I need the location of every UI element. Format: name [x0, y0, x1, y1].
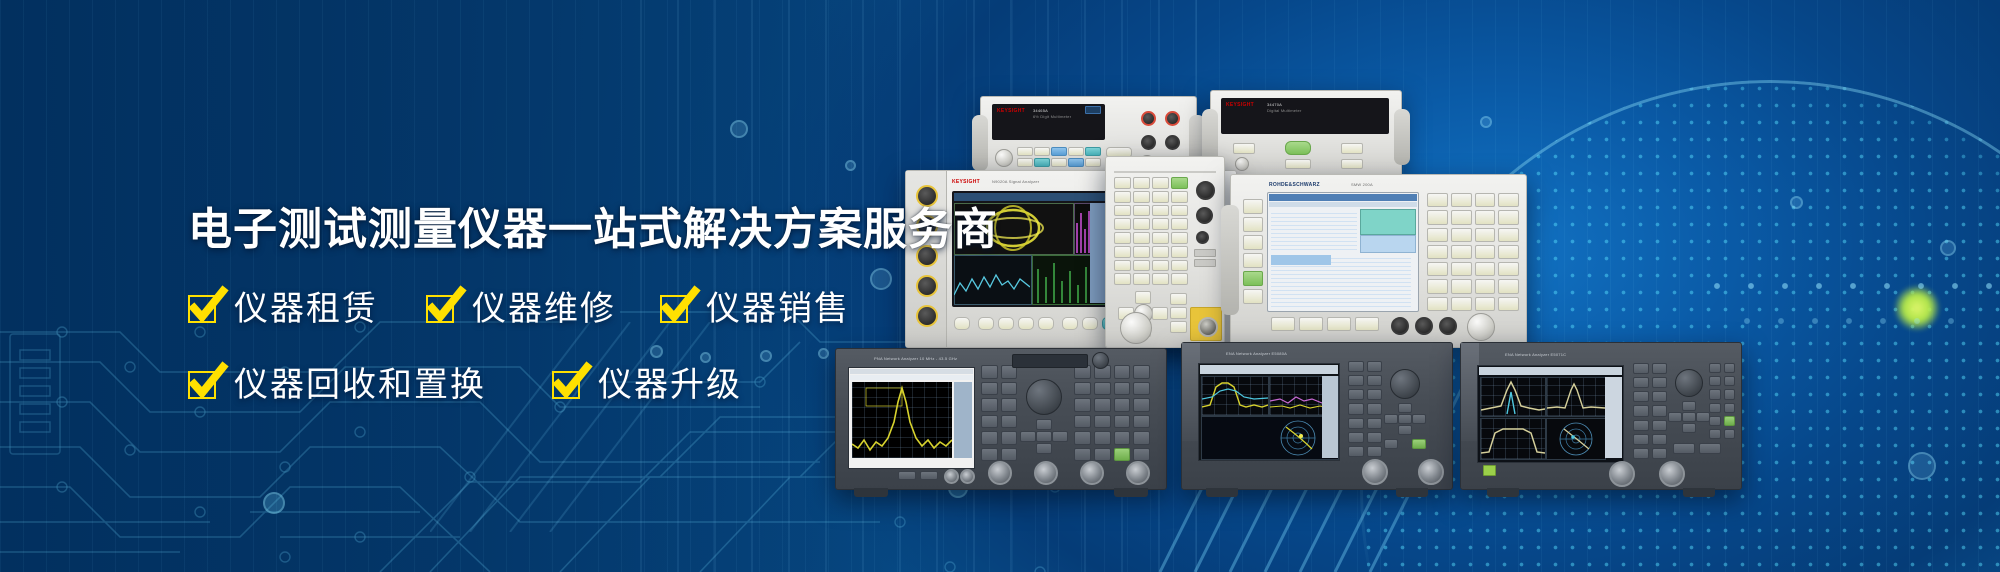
instrument-keypad-key	[1171, 232, 1188, 244]
instrument-keypad-key	[1171, 205, 1188, 217]
instrument-keypad-key	[1114, 365, 1131, 379]
instrument-keypad-key	[1427, 262, 1448, 276]
display-text-rows	[1271, 210, 1357, 250]
instrument-button	[1271, 317, 1295, 331]
instrument-nav-enter	[1682, 412, 1696, 422]
instrument-button	[1348, 418, 1364, 429]
instrument-test-port	[1418, 459, 1444, 485]
instrument-button	[1633, 434, 1649, 445]
instrument-model-label: N9020A Signal Analyzer	[992, 179, 1039, 184]
instrument-foot	[854, 488, 888, 497]
instrument-keypad-key	[1152, 260, 1169, 272]
instrument-keypad-key	[1475, 228, 1496, 242]
feature-instrument-upgrade[interactable]: 仪器升级	[552, 368, 742, 402]
instrument-softkey	[1243, 289, 1263, 304]
feature-label: 仪器维修	[472, 292, 616, 326]
instrument-keypad-key	[1724, 363, 1736, 373]
keysight-logo: KEYSIGHT	[1226, 102, 1254, 108]
instrument-button	[1341, 159, 1363, 169]
instrument-keypad-key	[1114, 260, 1131, 272]
instrument-foot	[1396, 488, 1428, 497]
instrument-foot	[1114, 488, 1148, 497]
instrument-keypad-key	[1171, 177, 1188, 189]
instrument-keypad-key	[1114, 191, 1131, 203]
instrument-usb-port	[898, 471, 916, 480]
instrument-test-port	[1034, 461, 1058, 485]
instrument-nav-up	[1135, 291, 1151, 304]
instrument-keypad-key	[1498, 228, 1519, 242]
instrument-keypad-key	[1074, 431, 1091, 445]
instrument-button	[1355, 317, 1379, 331]
instrument-navigation-knob	[1675, 369, 1703, 397]
feature-label: 仪器回收和置换	[234, 368, 486, 402]
instrument-handle	[1221, 205, 1239, 315]
instrument-keypad-key	[1724, 389, 1736, 399]
instrument-small-knob	[1092, 352, 1109, 369]
instrument-button	[1062, 317, 1078, 330]
instrument-keypad-key	[1498, 279, 1519, 293]
instrument-display	[1267, 192, 1419, 312]
instrument-keypad-key	[1114, 448, 1131, 462]
instrument-keypad-key	[1114, 398, 1131, 412]
instrument-keypad-key	[1152, 246, 1169, 258]
instrument-keypad-key	[1475, 245, 1496, 259]
instrument-keypad-key	[1427, 297, 1448, 311]
instrument-keypad-key	[1133, 177, 1150, 189]
instrument-keypad-key	[1114, 273, 1131, 285]
instrument-keypad-key	[1724, 416, 1736, 426]
instrument-keypad-key	[1094, 415, 1111, 429]
instrument-button	[1348, 375, 1364, 386]
instrument-test-port	[1609, 461, 1635, 487]
instrument-test-port	[988, 461, 1012, 485]
checkbox-checked-icon	[188, 293, 220, 325]
instrument-keypad-key	[1152, 191, 1169, 203]
instrument-keypad-key	[1114, 177, 1131, 189]
instrument-keypad-key	[1152, 273, 1169, 285]
instrument-keypad-key	[1709, 403, 1721, 413]
instrument-button	[1170, 307, 1187, 319]
feature-instrument-sales[interactable]: 仪器销售	[660, 292, 850, 326]
instrument-button	[1652, 363, 1668, 374]
instrument-button	[1652, 420, 1668, 431]
instrument-button	[1299, 317, 1323, 331]
instrument-keypad-key	[1133, 398, 1150, 412]
instrument-button	[1633, 363, 1649, 374]
instrument-model-label: 34465A	[1033, 108, 1048, 113]
instrument-connector	[1196, 181, 1215, 200]
checkbox-checked-icon	[552, 369, 584, 401]
instrument-keypad-key	[1475, 193, 1496, 207]
instrument-keypad-key	[1498, 297, 1519, 311]
instrument-button	[1017, 158, 1033, 167]
instrument-knob	[995, 149, 1013, 167]
instrument-keypad-key	[1475, 262, 1496, 276]
instrument-button	[1348, 432, 1364, 443]
instrument-keypad-key	[1427, 228, 1448, 242]
instrument-keypad-key	[1074, 448, 1091, 462]
instrument-keypad-key	[1133, 218, 1150, 230]
instrument-button	[1348, 389, 1364, 400]
keysight-logo: KEYSIGHT	[952, 179, 980, 185]
instrument-rotary-knob	[1120, 312, 1152, 344]
instrument-keypad-key	[1709, 376, 1721, 386]
instrument-keypad-key	[1171, 191, 1188, 203]
instrument-button	[1001, 448, 1018, 462]
instrument-rotary-knob	[1467, 313, 1495, 341]
instrument-keypad-key	[1114, 246, 1131, 258]
checkbox-checked-icon	[660, 293, 692, 325]
instrument-usb-port	[1699, 443, 1721, 454]
instrument-button	[981, 415, 998, 429]
instrument-keypad-key	[1133, 191, 1150, 203]
instrument-usb-port	[920, 471, 938, 480]
instrument-bnc-port	[944, 469, 959, 484]
instrument-bnc-port	[960, 469, 975, 484]
instrument-button	[1068, 147, 1084, 156]
instrument-softkey	[1243, 253, 1263, 268]
instrument-keypad-key	[1451, 245, 1472, 259]
instrument-nav-right	[1052, 431, 1068, 442]
instrument-foot	[1683, 488, 1715, 497]
instrument-model-label: ENA Network Analyzer E5071C	[1505, 352, 1566, 357]
instrument-terminal	[1165, 135, 1180, 150]
instrument-button	[1652, 434, 1668, 445]
instrument-softkey	[1243, 235, 1263, 250]
checkbox-checked-icon	[426, 293, 458, 325]
instrument-terminal	[1165, 111, 1180, 126]
instrument-keypad-key	[1427, 279, 1448, 293]
instrument-button	[981, 431, 998, 445]
instrument-ena-network-analyzer-center: ENA Network Analyzer E5080A	[1181, 342, 1453, 490]
instrument-keypad-key	[1114, 205, 1131, 217]
instrument-keypad-key	[1094, 431, 1111, 445]
instrument-handle	[1394, 109, 1410, 165]
instrument-button	[1285, 141, 1311, 155]
instrument-keypad-key	[1451, 279, 1472, 293]
instrument-keypad-key	[1498, 262, 1519, 276]
instrument-handle	[972, 115, 988, 171]
instrument-keypad-key	[1133, 273, 1150, 285]
instrument-keypad-key	[1498, 245, 1519, 259]
instrument-keypad-key	[1709, 389, 1721, 399]
instrument-button	[1170, 293, 1187, 305]
banner-copy: 电子测试测量仪器一站式解决方案服务商 仪器租赁 仪器维修	[188, 206, 1048, 402]
feature-label: 仪器销售	[706, 292, 850, 326]
instrument-nav-enter	[1036, 431, 1052, 442]
instrument-keypad-key	[1152, 205, 1169, 217]
instrument-keypad-key	[1152, 177, 1169, 189]
instrument-usb-port	[1673, 443, 1695, 454]
instrument-button	[1384, 439, 1398, 449]
instrument-keypad-key	[1114, 382, 1131, 396]
instrument-keypad-key	[1427, 193, 1448, 207]
instrument-model-label: ENA Network Analyzer E5080A	[1226, 351, 1287, 356]
instrument-button	[1367, 361, 1383, 372]
instrument-nav-right	[1696, 412, 1710, 422]
instrument-button	[1633, 377, 1649, 388]
instrument-button	[1348, 446, 1364, 457]
instrument-nav-right	[1152, 307, 1168, 320]
instrument-nav-up	[1036, 419, 1052, 430]
rohde-schwarz-logo: ROHDE&SCHWARZ	[1269, 182, 1320, 188]
instrument-button	[1412, 439, 1426, 449]
instrument-nav-up	[1398, 403, 1412, 413]
instrument-navigation-knob	[1390, 369, 1420, 399]
instrument-keypad-key	[1724, 376, 1736, 386]
instrument-keypad-key	[1171, 273, 1188, 285]
instrument-button	[1367, 375, 1383, 386]
instrument-keypad-key	[1171, 218, 1188, 230]
instrument-keypad-key	[1074, 398, 1091, 412]
instrument-button	[1085, 158, 1101, 167]
instrument-button	[1367, 389, 1383, 400]
instrument-power-led	[1483, 465, 1496, 476]
instrument-subtitle: 6½ Digit Multimeter	[1033, 114, 1071, 119]
instrument-button	[1051, 158, 1067, 167]
keysight-logo: KEYSIGHT	[997, 108, 1025, 114]
instrument-button	[1652, 448, 1668, 459]
instrument-button	[1633, 420, 1649, 431]
feature-instrument-recycle-exchange[interactable]: 仪器回收和置换	[188, 368, 486, 402]
instrument-softkey	[1243, 217, 1263, 232]
instrument-keypad-key	[1152, 218, 1169, 230]
instrument-keypad-key	[1427, 245, 1448, 259]
instrument-keypad-key	[1152, 232, 1169, 244]
instrument-button	[1170, 321, 1187, 333]
bokeh-bubble	[845, 160, 856, 171]
instrument-keypad-key	[1133, 205, 1150, 217]
instrument-keypad-key	[1171, 246, 1188, 258]
instrument-button	[1633, 448, 1649, 459]
instrument-keypad-key	[1451, 228, 1472, 242]
instrument-test-port	[1659, 461, 1685, 487]
instrument-keypad-key	[1498, 210, 1519, 224]
feature-row-1: 仪器租赁 仪器维修 仪器销售	[188, 292, 1048, 326]
instrument-test-port	[1362, 459, 1388, 485]
instrument-keypad-key	[1171, 260, 1188, 272]
instrument-softkey	[1243, 199, 1263, 214]
instrument-button	[1085, 147, 1101, 156]
instrument-button	[1367, 446, 1383, 457]
instrument-keypad-key	[1498, 193, 1519, 207]
instrument-keypad-key	[1475, 210, 1496, 224]
instrument-nav-enter	[1398, 414, 1412, 424]
instrument-button	[1633, 391, 1649, 402]
instrument-keypad-key	[1451, 193, 1472, 207]
instrument-keypad-key	[1709, 416, 1721, 426]
instrument-keypad-key	[1724, 403, 1736, 413]
instrument-keypad-key	[1724, 429, 1736, 439]
instrument-keypad-key	[1133, 260, 1150, 272]
instrument-keypad-key	[1094, 448, 1111, 462]
instrument-keypad-key	[1133, 365, 1150, 379]
feature-label: 仪器升级	[598, 368, 742, 402]
instrument-keypad-key	[1427, 210, 1448, 224]
checkbox-checked-icon	[188, 369, 220, 401]
instrument-keypad-key	[1451, 262, 1472, 276]
page-title: 电子测试测量仪器一站式解决方案服务商	[188, 206, 1048, 254]
instrument-keypad-key	[1114, 218, 1131, 230]
instrument-display	[1198, 363, 1340, 461]
instrument-button	[1285, 159, 1311, 169]
instrument-keypad-key	[1475, 279, 1496, 293]
instrument-mxg-signal-generator	[1105, 156, 1225, 348]
instrument-keypad-key	[1074, 382, 1091, 396]
instrument-button	[1233, 143, 1255, 154]
instrument-softkey	[1243, 271, 1263, 286]
instrument-keypad-key	[1133, 246, 1150, 258]
instrument-subtitle: Digital Multimeter	[1267, 108, 1302, 113]
instrument-digital-multimeter-34470a: KEYSIGHT 34470A Digital Multimeter	[1210, 90, 1402, 180]
instrument-nav-right	[1412, 414, 1426, 424]
instrument-rf-port	[1415, 317, 1433, 335]
instrument-button	[1348, 403, 1364, 414]
instrument-button	[1017, 147, 1033, 156]
instrument-keypad-key	[1451, 297, 1472, 311]
instrument-nav-left	[1020, 431, 1036, 442]
instrument-display	[1477, 365, 1624, 463]
instrument-rf-port	[1439, 317, 1457, 335]
instrument-foot	[1206, 488, 1238, 497]
instrument-test-port	[1080, 461, 1104, 485]
instrument-button	[1034, 158, 1050, 167]
instrument-keypad-key	[1094, 398, 1111, 412]
instrument-terminal	[1141, 135, 1156, 150]
instrument-keypad-key	[1133, 431, 1150, 445]
instrument-keypad-key	[1475, 297, 1496, 311]
instrument-button	[1001, 431, 1018, 445]
instrument-keypad-key	[1451, 210, 1472, 224]
instrument-model-label: 34470A	[1267, 102, 1282, 107]
instrument-keypad-key	[1114, 415, 1131, 429]
instrument-rf-output-port	[1190, 307, 1222, 341]
instrument-button	[1068, 158, 1084, 167]
instrument-nav-left	[1668, 412, 1682, 422]
feature-instrument-rental[interactable]: 仪器租赁	[188, 292, 378, 326]
instrument-keypad-key	[1114, 431, 1131, 445]
instrument-keypad-key	[1133, 448, 1150, 462]
instrument-cluster: KEYSIGHT 34465A 6½ Digit Multimeter	[1035, 96, 1965, 516]
instrument-button	[1633, 405, 1649, 416]
instrument-terminal	[1141, 111, 1156, 126]
instrument-button	[1367, 418, 1383, 429]
instrument-nav-down	[1036, 443, 1052, 454]
instrument-keypad-key	[1133, 232, 1150, 244]
instrument-knob	[1235, 157, 1249, 171]
instrument-button	[1082, 317, 1098, 330]
instrument-button	[1348, 361, 1364, 372]
instrument-keypad-key	[1709, 363, 1721, 373]
instrument-connector	[1196, 207, 1213, 224]
instrument-foot	[1487, 488, 1519, 497]
instrument-keypad-key	[1133, 382, 1150, 396]
instrument-button	[1034, 147, 1050, 156]
instrument-ena-network-analyzer-right: ENA Network Analyzer E5071C	[1460, 342, 1742, 490]
instrument-button	[1367, 432, 1383, 443]
instrument-keypad-key	[1074, 415, 1091, 429]
instrument-button	[981, 448, 998, 462]
instrument-button	[1652, 405, 1668, 416]
feature-label: 仪器租赁	[234, 292, 378, 326]
instrument-keypad-key	[1094, 382, 1111, 396]
feature-row-2: 仪器回收和置换 仪器升级	[188, 368, 1048, 402]
instrument-test-port	[1126, 461, 1150, 485]
instrument-button	[1051, 147, 1067, 156]
feature-instrument-repair[interactable]: 仪器维修	[426, 292, 616, 326]
instrument-nav-left	[1384, 414, 1398, 424]
hero-banner: KEYSIGHT 34465A 6½ Digit Multimeter	[0, 0, 2000, 572]
instrument-button	[1367, 403, 1383, 414]
instrument-button	[1652, 391, 1668, 402]
instrument-rf-port	[1391, 317, 1409, 335]
instrument-button	[1001, 415, 1018, 429]
instrument-button	[1327, 317, 1351, 331]
instrument-model-label: SMW 200A	[1351, 182, 1373, 187]
bokeh-bubble	[730, 120, 748, 138]
instrument-keypad-key	[1114, 232, 1131, 244]
instrument-nav-down	[1398, 425, 1412, 435]
instrument-button	[1341, 143, 1363, 154]
instrument-connector	[1196, 231, 1209, 244]
instrument-nav-down	[1682, 423, 1696, 433]
instrument-keypad-key	[1709, 429, 1721, 439]
instrument-rs-signal-generator: ROHDE&SCHWARZ SMW 200A	[1230, 174, 1527, 348]
instrument-keypad-key	[1133, 415, 1150, 429]
instrument-nav-up	[1682, 401, 1696, 411]
instrument-button	[1652, 377, 1668, 388]
